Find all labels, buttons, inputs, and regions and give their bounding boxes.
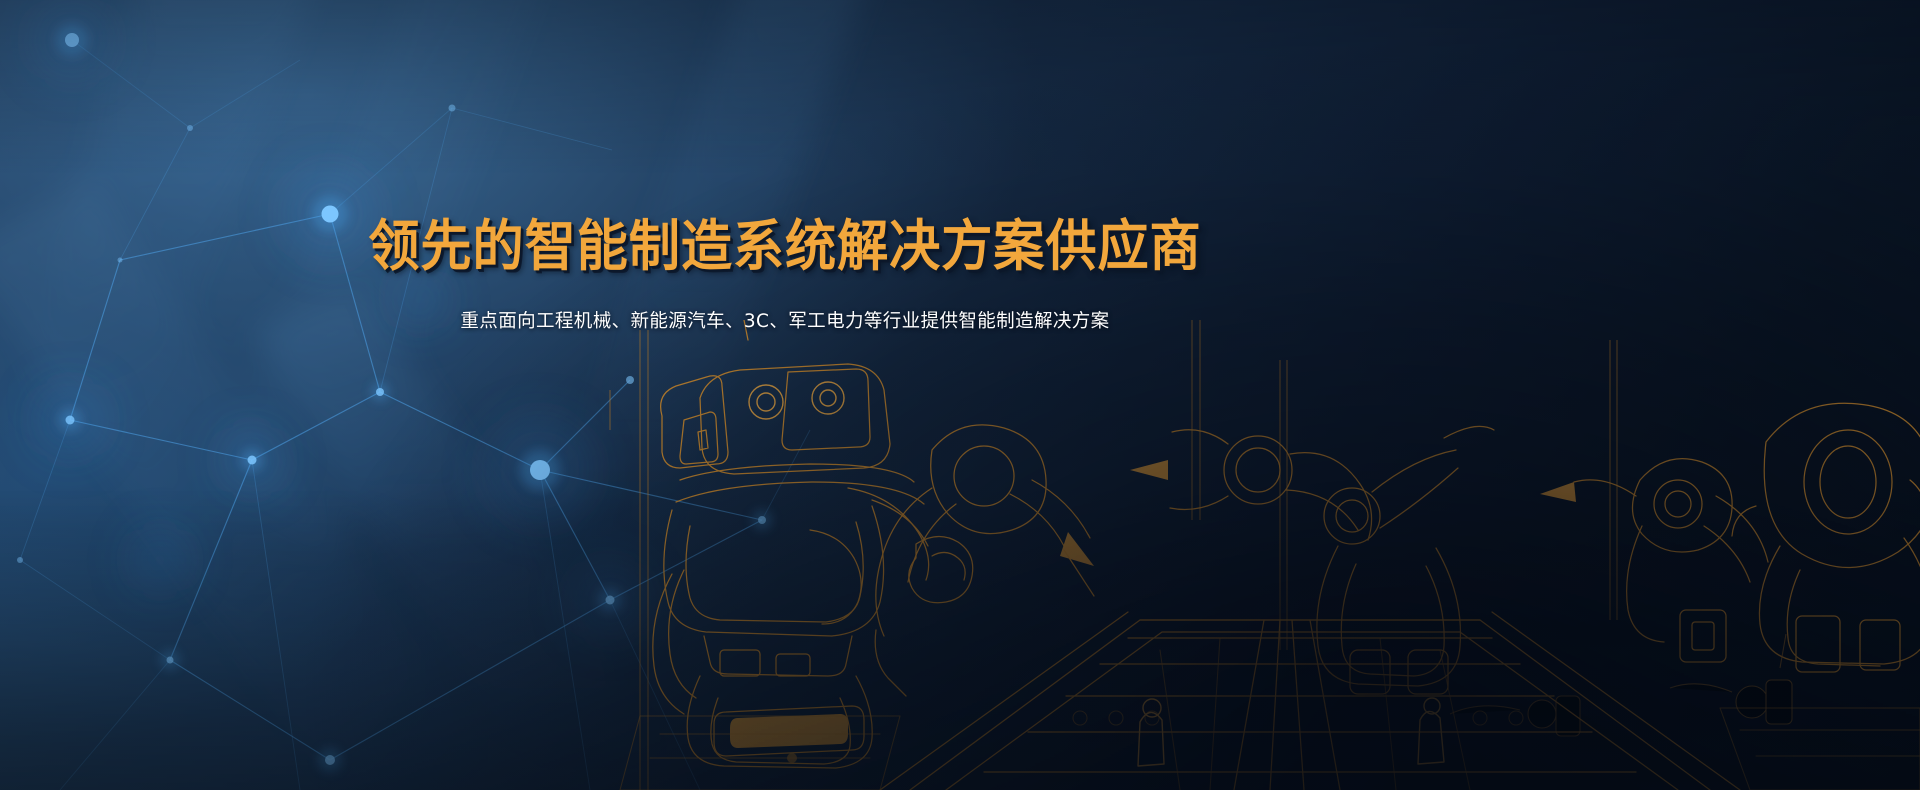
hero-banner: 领先的智能制造系统解决方案供应商 重点面向工程机械、新能源汽车、3C、军工电力等…	[0, 0, 1920, 790]
vignette-overlay	[0, 0, 1920, 790]
